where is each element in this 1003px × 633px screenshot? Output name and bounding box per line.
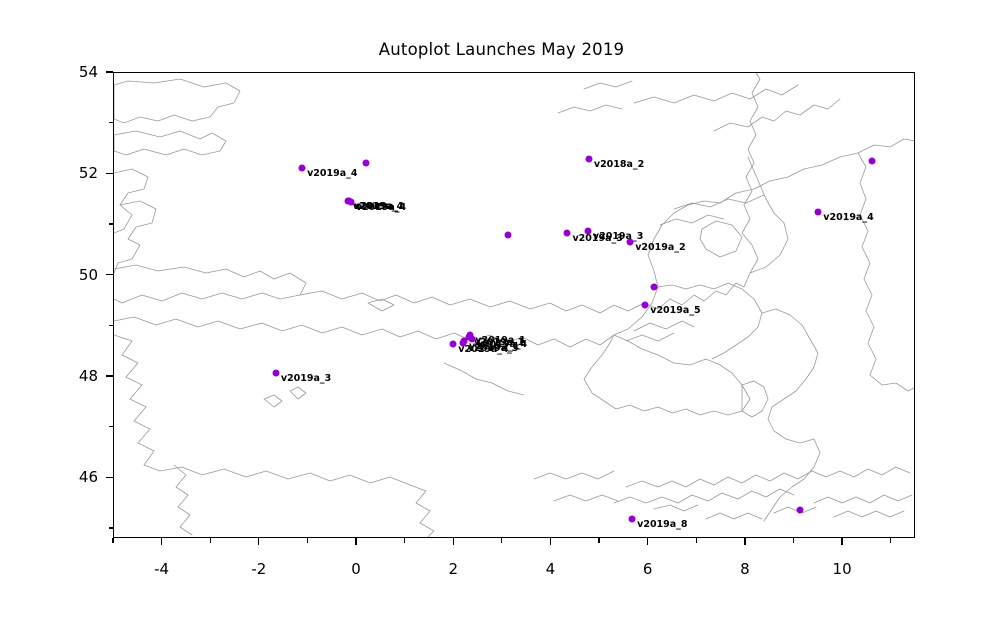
x-axis-tick [647, 538, 648, 545]
y-axis-minor-tick [109, 527, 114, 528]
x-axis-minor-tick [307, 538, 308, 543]
figure-canvas: Autoplot Launches May 2019 [0, 0, 1003, 633]
data-point[interactable] [629, 516, 636, 523]
y-axis-tick [106, 173, 113, 174]
y-axis-tick-label: 50 [0, 266, 98, 284]
data-point[interactable] [504, 232, 511, 239]
data-point-label: v2019a_5 [650, 306, 700, 316]
x-axis-minor-tick [598, 538, 599, 543]
x-axis-tick [161, 538, 162, 545]
x-axis-tick [355, 538, 356, 545]
data-point[interactable] [651, 283, 658, 290]
map-geometry [114, 73, 915, 538]
data-point[interactable] [362, 160, 369, 167]
y-axis-tick-label: 46 [0, 468, 98, 486]
data-point[interactable] [584, 228, 591, 235]
y-axis-minor-tick [109, 325, 114, 326]
data-point[interactable] [869, 158, 876, 165]
data-point[interactable] [585, 156, 592, 163]
data-point[interactable] [815, 208, 822, 215]
map-axes: v2019a_4v2019a_4v2019a_1v2019a_4v2018a_2… [113, 72, 915, 538]
y-axis-tick [106, 71, 113, 72]
x-axis-tick [550, 538, 551, 545]
y-axis-minor-tick [109, 223, 114, 224]
y-axis-tick-label: 48 [0, 367, 98, 385]
data-point[interactable] [642, 301, 649, 308]
y-axis-tick [106, 375, 113, 376]
data-point[interactable] [347, 198, 354, 205]
chart-title: Autoplot Launches May 2019 [0, 40, 1003, 59]
data-point-label: v2019a_8 [637, 520, 687, 530]
x-axis-tick-label: 10 [833, 560, 852, 578]
x-axis-tick-label: 0 [351, 560, 361, 578]
x-axis-tick [453, 538, 454, 545]
x-axis-minor-tick [501, 538, 502, 543]
x-axis-minor-tick [404, 538, 405, 543]
data-point[interactable] [272, 369, 279, 376]
data-point[interactable] [797, 506, 804, 513]
x-axis-tick-label: -4 [154, 560, 169, 578]
y-axis-tick [106, 477, 113, 478]
data-point-label: v2018a_2 [594, 160, 644, 170]
data-point-label: v2019a_3 [281, 374, 331, 384]
y-axis-tick [106, 274, 113, 275]
data-point-label: v2019a_4 [823, 213, 873, 223]
x-axis-minor-tick [890, 538, 891, 543]
x-axis-minor-tick [112, 538, 113, 543]
data-point-label: v2019a_3 [593, 232, 643, 242]
data-point-label: v2019a_4 [307, 169, 357, 179]
data-point[interactable] [564, 229, 571, 236]
y-axis-minor-tick [109, 426, 114, 427]
data-point-label: v2019a_2 [635, 243, 685, 253]
data-point-label: v2019a_4 [356, 203, 406, 213]
x-axis-tick [258, 538, 259, 545]
x-axis-minor-tick [793, 538, 794, 543]
x-axis-minor-tick [210, 538, 211, 543]
x-axis-tick-label: 6 [643, 560, 653, 578]
x-axis-tick-label: 4 [546, 560, 556, 578]
y-axis-tick-label: 54 [0, 63, 98, 81]
x-axis-tick-label: 2 [448, 560, 458, 578]
x-axis-tick [744, 538, 745, 545]
x-axis-tick-label: -2 [251, 560, 266, 578]
data-point[interactable] [299, 165, 306, 172]
x-axis-minor-tick [696, 538, 697, 543]
y-axis-tick-label: 52 [0, 164, 98, 182]
y-axis-minor-tick [109, 122, 114, 123]
x-axis-tick [841, 538, 842, 545]
data-point-label: v2019a_4 [458, 345, 508, 355]
data-point[interactable] [627, 238, 634, 245]
data-point[interactable] [450, 341, 457, 348]
x-axis-tick-label: 8 [740, 560, 750, 578]
